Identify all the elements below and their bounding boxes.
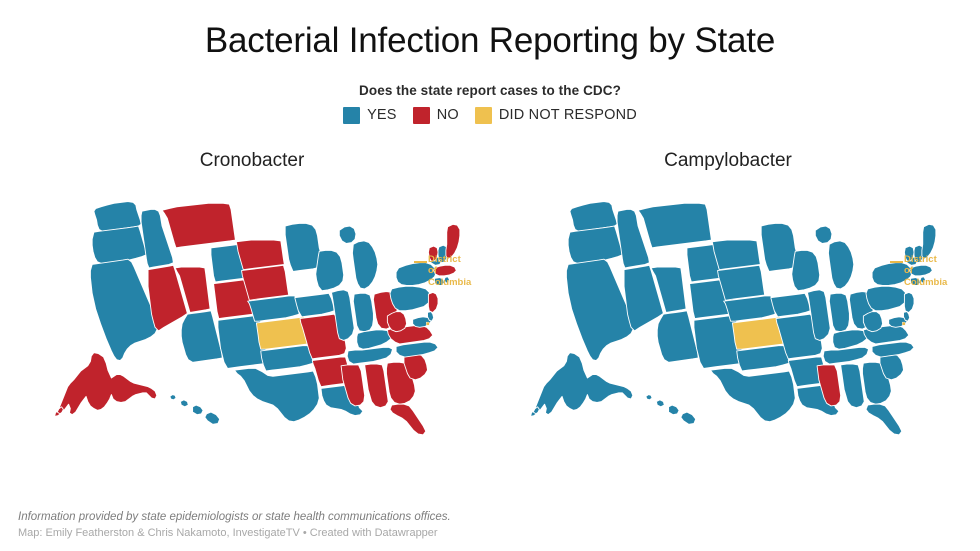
legend-swatch-yes — [343, 107, 360, 124]
state-ky[interactable] — [833, 329, 869, 348]
state-ri[interactable] — [444, 276, 449, 282]
state-sd[interactable] — [242, 265, 289, 300]
state-ks[interactable] — [732, 316, 784, 348]
state-fl[interactable] — [866, 404, 902, 435]
state-nd[interactable] — [712, 240, 760, 270]
state-or[interactable] — [568, 226, 622, 264]
legend-label-yes: YES — [367, 107, 397, 123]
state-wv[interactable] — [387, 311, 406, 331]
state-nd[interactable] — [236, 240, 284, 270]
state-hi[interactable] — [170, 394, 220, 424]
state-ok[interactable] — [737, 345, 789, 370]
state-mt[interactable] — [638, 203, 711, 248]
state-ct[interactable] — [911, 277, 921, 285]
state-tx[interactable] — [235, 368, 320, 421]
state-dc-marker[interactable] — [426, 322, 429, 325]
state-fl[interactable] — [390, 404, 426, 435]
legend-item-did-not-respond: DID NOT RESPOND — [475, 107, 637, 124]
state-or[interactable] — [92, 226, 146, 264]
map-panel-cronobacter: Cronobacter District of Columbia — [42, 150, 462, 440]
state-wi[interactable] — [792, 250, 820, 290]
page-title: Bacterial Infection Reporting by State — [0, 0, 980, 61]
footer: Information provided by state epidemiolo… — [18, 511, 451, 539]
state-vt[interactable] — [428, 246, 438, 261]
state-tx[interactable] — [711, 368, 796, 421]
state-mi[interactable] — [339, 226, 377, 289]
state-sd[interactable] — [718, 265, 765, 300]
legend-item-no: NO — [413, 107, 459, 124]
state-vt[interactable] — [904, 246, 914, 261]
map-title-campylobacter: Campylobacter — [518, 150, 938, 172]
state-nj[interactable] — [428, 292, 438, 312]
state-ia[interactable] — [771, 293, 810, 317]
state-tn[interactable] — [347, 347, 392, 364]
dc-leader-line-cronobacter — [414, 261, 427, 263]
state-me[interactable] — [922, 224, 936, 259]
state-az[interactable] — [181, 310, 222, 362]
legend-item-yes: YES — [343, 107, 397, 124]
state-in[interactable] — [353, 293, 373, 331]
legend-swatch-no — [413, 107, 430, 124]
map-title-cronobacter: Cronobacter — [42, 150, 462, 172]
state-ky[interactable] — [357, 329, 393, 348]
dc-leader-line-campylobacter — [890, 261, 903, 263]
state-me[interactable] — [446, 224, 460, 259]
legend-items: YES NO DID NOT RESPOND — [0, 107, 980, 124]
legend-label-did-not-respond: DID NOT RESPOND — [499, 107, 637, 123]
map-panel-campylobacter: Campylobacter District of Columbia — [518, 150, 938, 440]
state-mt[interactable] — [162, 203, 235, 248]
choropleth-map-campylobacter[interactable] — [518, 178, 938, 440]
state-nc[interactable] — [396, 342, 438, 357]
legend-swatch-did-not-respond — [475, 107, 492, 124]
state-nc[interactable] — [872, 342, 914, 357]
state-mi[interactable] — [815, 226, 853, 289]
state-al[interactable] — [841, 364, 865, 408]
state-pa[interactable] — [866, 286, 906, 310]
state-tn[interactable] — [823, 347, 868, 364]
state-wv[interactable] — [863, 311, 882, 331]
state-ri[interactable] — [920, 276, 925, 282]
legend: Does the state report cases to the CDC? … — [0, 83, 980, 124]
maps-container: Cronobacter District of Columbia Campylo… — [0, 150, 980, 440]
legend-question: Does the state report cases to the CDC? — [0, 83, 980, 98]
legend-label-no: NO — [437, 107, 459, 123]
state-ca[interactable] — [90, 259, 157, 360]
state-ak[interactable] — [531, 352, 633, 416]
state-nj[interactable] — [904, 292, 914, 312]
state-ak[interactable] — [55, 352, 157, 416]
state-in[interactable] — [829, 293, 849, 331]
state-ks[interactable] — [256, 316, 308, 348]
state-ca[interactable] — [566, 259, 633, 360]
state-dc-marker[interactable] — [902, 322, 905, 325]
state-ia[interactable] — [295, 293, 334, 317]
footer-credit: Map: Emily Featherston & Chris Nakamoto,… — [18, 527, 451, 539]
state-pa[interactable] — [390, 286, 430, 310]
state-az[interactable] — [657, 310, 698, 362]
choropleth-map-cronobacter[interactable] — [42, 178, 462, 440]
state-ma[interactable] — [910, 265, 933, 275]
state-hi[interactable] — [646, 394, 696, 424]
state-ct[interactable] — [435, 277, 445, 285]
state-al[interactable] — [365, 364, 389, 408]
footer-note: Information provided by state epidemiolo… — [18, 511, 451, 523]
state-ma[interactable] — [434, 265, 457, 275]
state-wi[interactable] — [316, 250, 344, 290]
state-ok[interactable] — [261, 345, 313, 370]
